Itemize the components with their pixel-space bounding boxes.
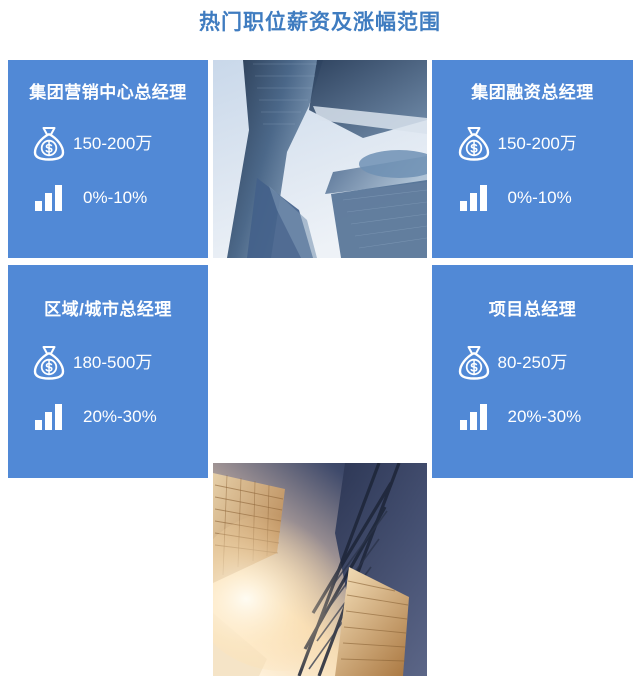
money-bag-icon: S (454, 343, 494, 383)
money-bag-icon: S (454, 124, 494, 164)
jobs-grid: 集团营销中心总经理 S 150-200万 (8, 60, 633, 478)
growth-row: 0%-10% (29, 178, 187, 218)
money-bag-icon: S (29, 124, 69, 164)
bar-chart-icon (454, 178, 494, 218)
page-title: 热门职位薪资及涨幅范围 (0, 8, 640, 38)
infographic-root: 热门职位薪资及涨幅范围 集团营销中心总经理 S 150-200万 (0, 0, 640, 485)
growth-value: 20%-30% (69, 407, 157, 427)
growth-row: 0%-10% (454, 178, 612, 218)
salary-value: 80-250万 (494, 353, 568, 373)
salary-row: S 150-200万 (454, 124, 612, 164)
skyscrapers-upward-view-photo (213, 60, 427, 258)
job-title: 集团营销中心总经理 (29, 82, 187, 104)
salary-value: 150-200万 (69, 134, 152, 154)
job-title: 区域/城市总经理 (44, 299, 172, 321)
bar-chart-icon (29, 178, 69, 218)
job-card-bottom-right[interactable]: 项目总经理 S 80-250万 (432, 265, 633, 478)
job-card-bottom-left[interactable]: 区域/城市总经理 S 180-500万 (8, 265, 208, 478)
growth-value: 0%-10% (69, 188, 147, 208)
growth-row: 20%-30% (454, 397, 612, 437)
salary-row: S 150-200万 (29, 124, 187, 164)
salary-row: S 180-500万 (29, 343, 187, 383)
salary-row: S 80-250万 (454, 343, 612, 383)
growth-value: 20%-30% (494, 407, 582, 427)
job-title: 集团融资总经理 (471, 82, 594, 104)
salary-value: 180-500万 (69, 353, 152, 373)
job-card-top-right[interactable]: 集团融资总经理 S 150-200万 (432, 60, 633, 258)
growth-value: 0%-10% (494, 188, 572, 208)
money-bag-icon: S (29, 343, 69, 383)
salary-value: 150-200万 (494, 134, 577, 154)
bar-chart-icon (454, 397, 494, 437)
job-card-top-left[interactable]: 集团营销中心总经理 S 150-200万 (8, 60, 208, 258)
sunset-cityscape-photo (213, 463, 427, 676)
bar-chart-icon (29, 397, 69, 437)
job-title: 项目总经理 (489, 299, 577, 321)
growth-row: 20%-30% (29, 397, 187, 437)
